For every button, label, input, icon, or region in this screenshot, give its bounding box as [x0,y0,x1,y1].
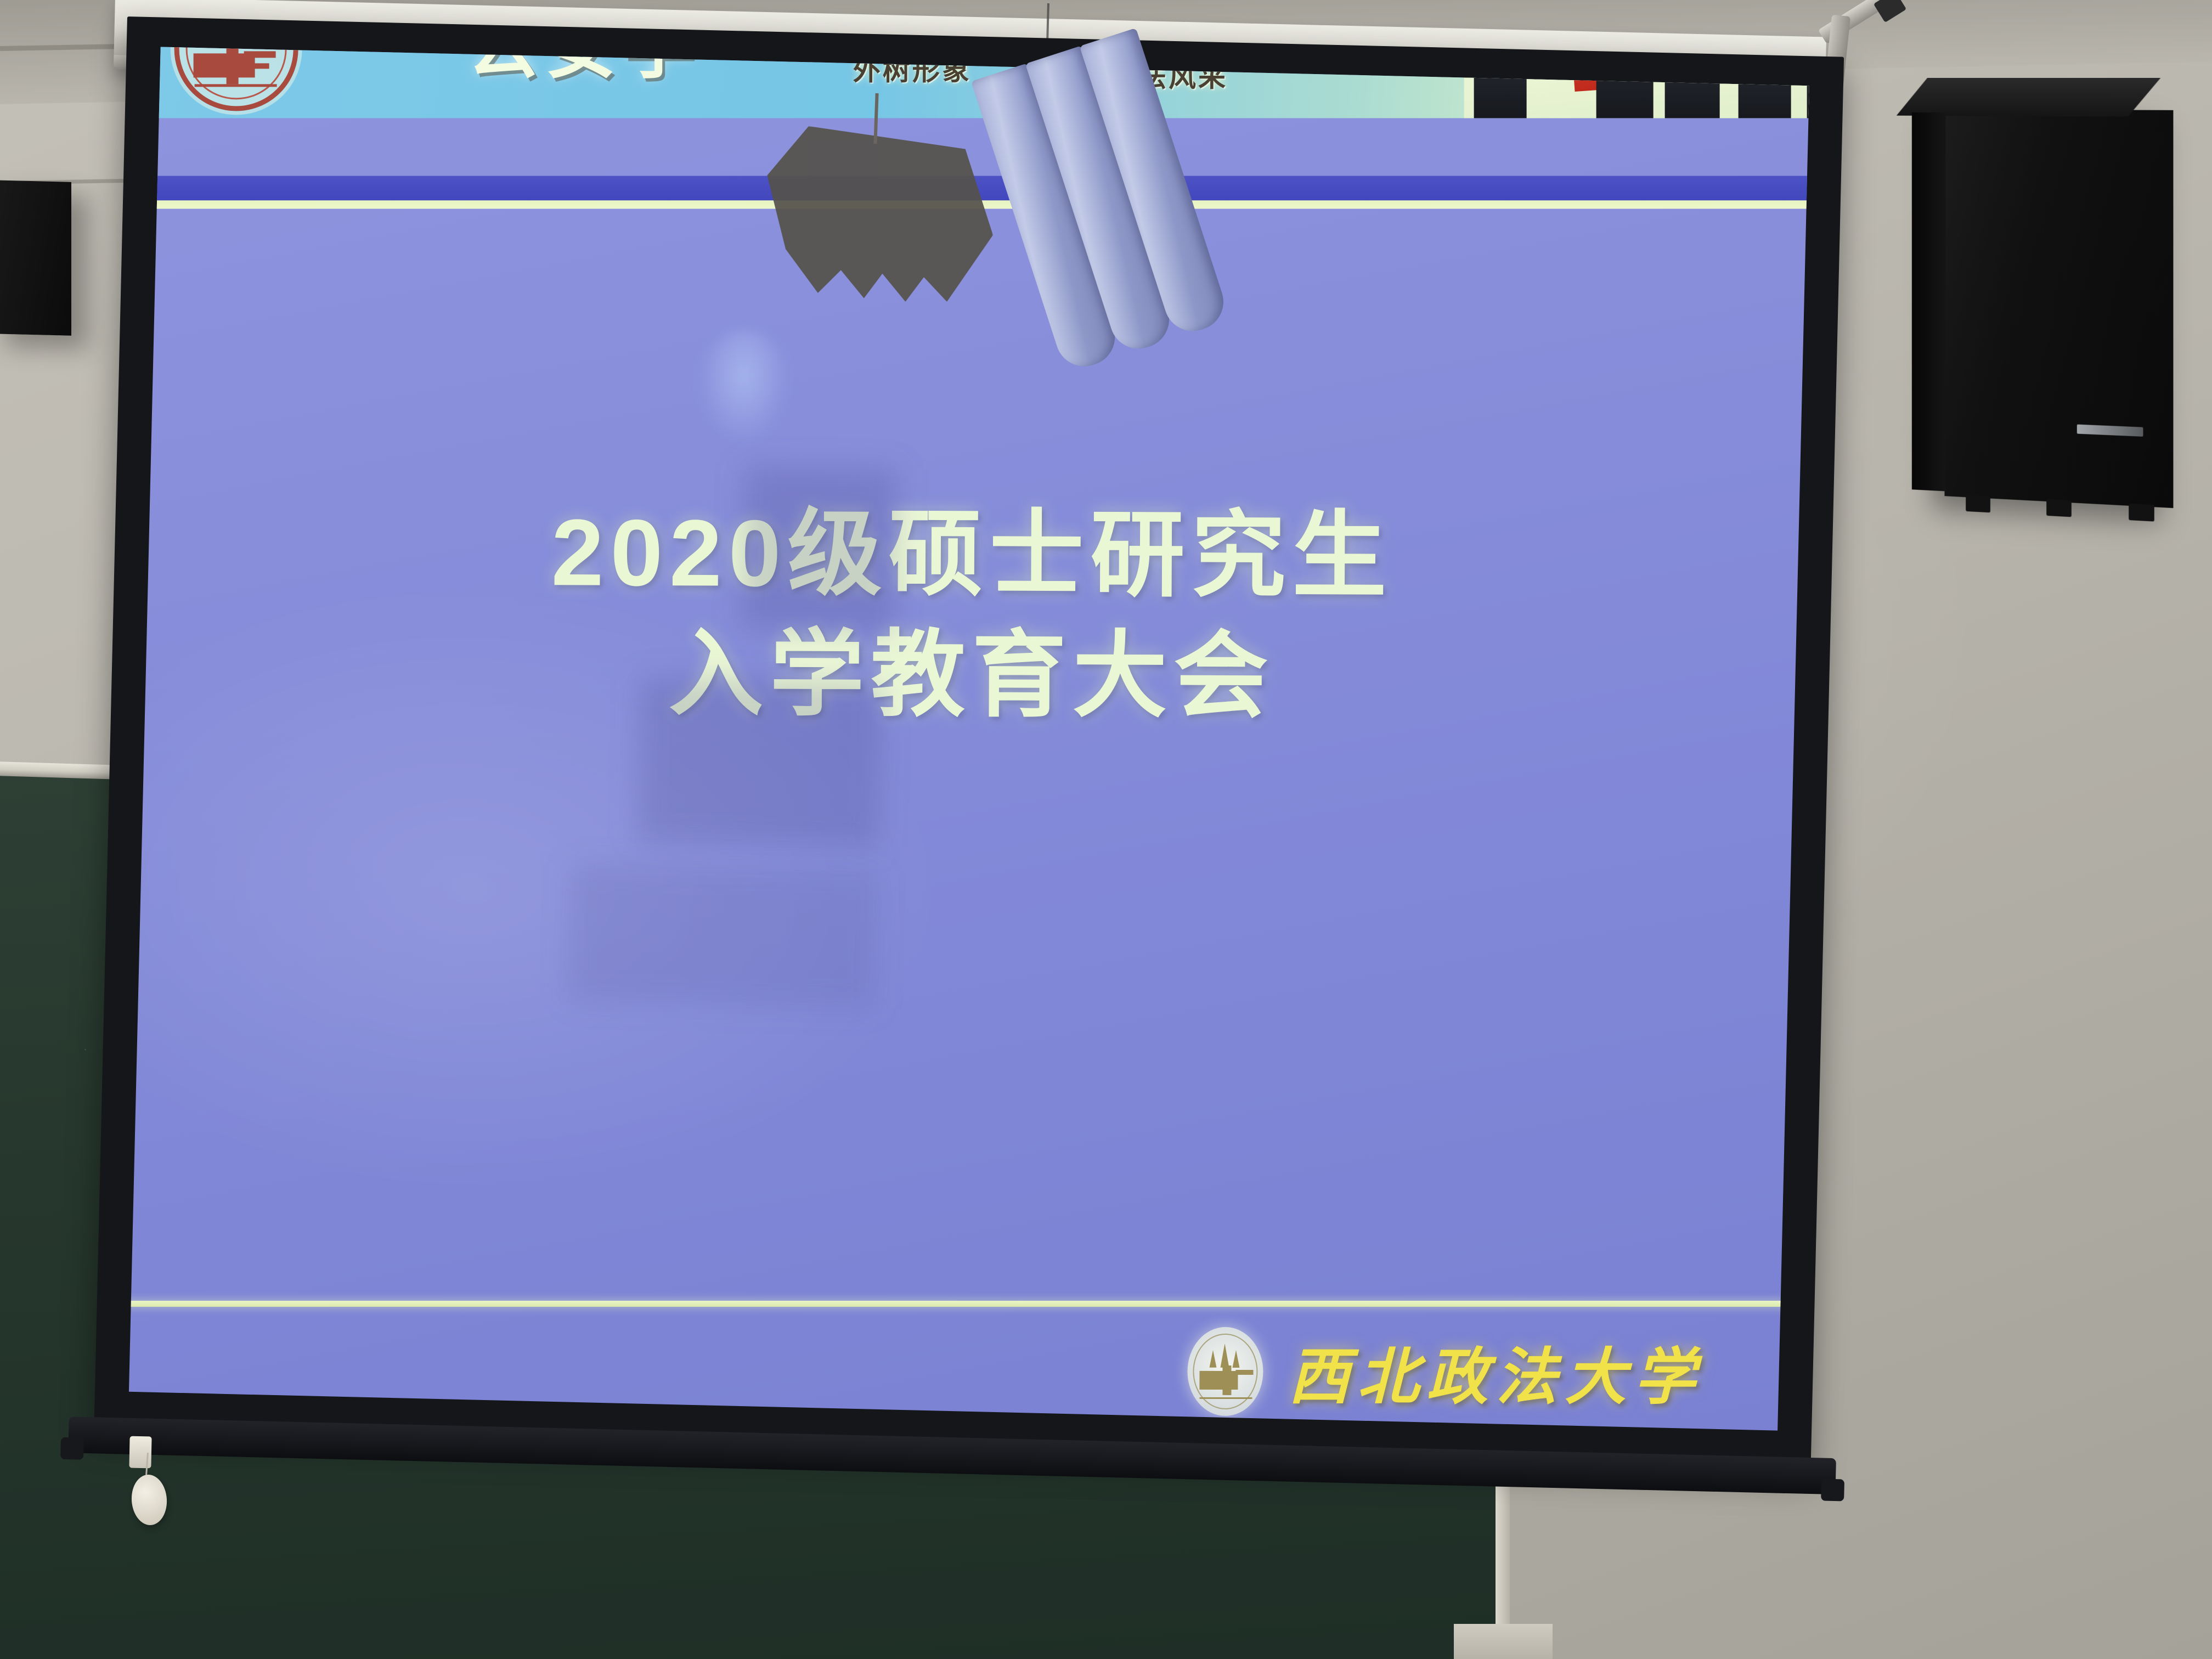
screen-glare [696,329,792,446]
slide-title-line-1: 2020级硕士研究生 [148,490,1797,618]
footer-divider [129,1301,1809,1307]
speaker-foot [2129,504,2154,522]
speaker-side-face [1912,112,1946,492]
speaker-brand-logo [2077,425,2143,437]
slide-footer: 西北政法大学 [1187,1327,1703,1417]
desk-edge [1454,1624,1553,1659]
speaker-foot [1966,495,1990,512]
screen-bar-cap-right [1821,1479,1844,1501]
classroom-scene: Redleaf 公安学 内强素质 显公安特色 外树形象 展 [0,0,2212,1659]
speaker-foot [2046,499,2072,517]
projected-shadow [567,864,877,1008]
right-speaker [1944,109,2173,508]
university-seal-icon [1187,1327,1263,1416]
screen-pull-bracket[interactable] [129,1436,151,1469]
projected-shadow [637,677,882,847]
slide-title: 2020级硕士研究生 入学教育大会 [147,490,1797,739]
school-name-label: 西北政法大学 [1288,1327,1703,1417]
slide-title-line-2: 入学教育大会 [147,611,1797,739]
screen-bar-cap-left [60,1437,84,1460]
projected-shadow [741,464,898,633]
left-speaker [0,180,71,336]
university-emblem-icon [174,47,298,111]
speaker-top-face [1897,78,2161,117]
